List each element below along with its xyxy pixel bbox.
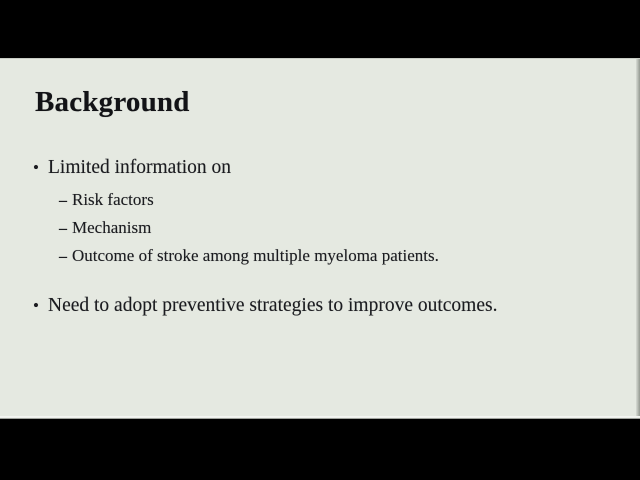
- video-frame: Background • Limited information on – Ri…: [0, 0, 640, 480]
- bullet-label: Need to adopt preventive strategies to i…: [48, 292, 497, 320]
- dash-bullet-icon: –: [59, 215, 72, 242]
- dash-bullet-icon: –: [59, 243, 72, 270]
- bullet-label: Limited information on: [48, 154, 231, 182]
- dash-bullet-icon: –: [59, 187, 72, 214]
- round-bullet-icon: •: [33, 154, 48, 182]
- letterbox-bar-top: [0, 0, 640, 58]
- slide-right-edge-shadow: [636, 59, 640, 419]
- sub-bullet-label: Risk factors: [72, 186, 154, 213]
- sub-bullet-item: – Mechanism: [0, 214, 640, 242]
- sub-bullet-label: Outcome of stroke among multiple myeloma…: [72, 242, 439, 269]
- bullet-item: • Need to adopt preventive strategies to…: [0, 292, 640, 320]
- bullet-item: • Limited information on: [0, 154, 640, 182]
- slide-title: Background: [35, 87, 190, 117]
- presentation-slide: Background • Limited information on – Ri…: [0, 58, 640, 419]
- sub-bullet-list: – Risk factors – Mechanism – Outcome of …: [0, 186, 640, 270]
- bullet-group-spacer: [0, 270, 640, 292]
- letterbox-bar-bottom: [0, 419, 640, 480]
- round-bullet-icon: •: [33, 292, 48, 320]
- sub-bullet-label: Mechanism: [72, 214, 151, 241]
- slide-body: • Limited information on – Risk factors …: [0, 154, 640, 324]
- sub-bullet-item: – Risk factors: [0, 186, 640, 214]
- sub-bullet-item: – Outcome of stroke among multiple myelo…: [0, 242, 640, 270]
